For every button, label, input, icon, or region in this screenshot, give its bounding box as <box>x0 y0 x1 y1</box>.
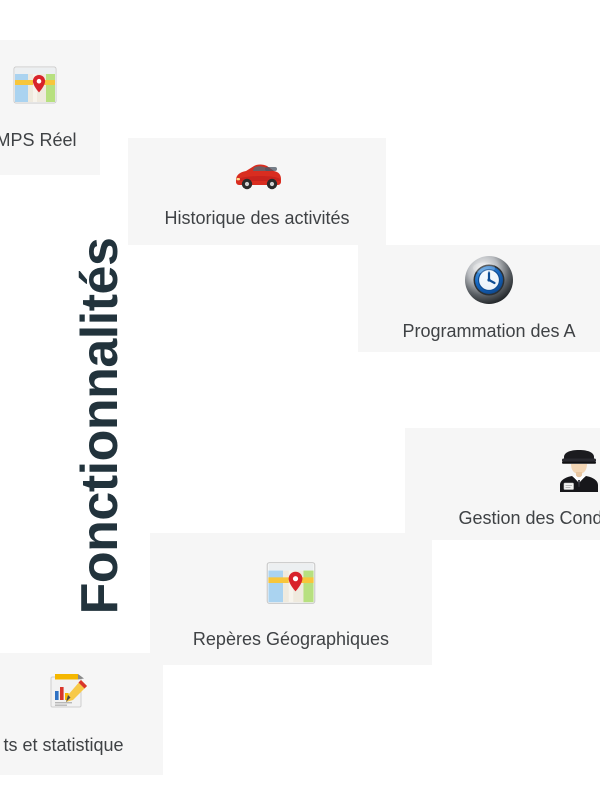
feature-card-label: Historique des activités <box>164 208 349 230</box>
feature-showcase: Fonctionnalités MPS Réel <box>0 0 600 800</box>
feature-card-label: Repères Géographiques <box>193 629 389 651</box>
map-pin-icon <box>12 62 58 108</box>
page-title: Fonctionnalités <box>74 216 126 636</box>
feature-card-driver-management[interactable]: Gestion des Cond <box>405 428 600 540</box>
feature-card-label: ts et statistique <box>3 735 123 757</box>
feature-card-label: Gestion des Cond <box>458 508 600 530</box>
clock-dial-icon <box>464 255 514 305</box>
map-pin-icon <box>265 557 317 609</box>
feature-card-reports-statistics[interactable]: ts et statistique <box>0 653 163 775</box>
feature-card-activity-history[interactable]: Historique des activités <box>128 138 386 245</box>
red-convertible-car-icon <box>230 154 284 194</box>
feature-card-realtime-tracking[interactable]: MPS Réel <box>0 40 100 175</box>
feature-card-label: Programmation des A <box>402 321 575 343</box>
feature-card-alert-scheduling[interactable]: Programmation des A <box>358 245 600 352</box>
feature-card-label: MPS Réel <box>0 130 77 152</box>
police-officer-icon <box>556 444 600 492</box>
report-chart-pencil-icon <box>45 667 93 715</box>
feature-card-geographic-landmarks[interactable]: Repères Géographiques <box>150 533 432 665</box>
